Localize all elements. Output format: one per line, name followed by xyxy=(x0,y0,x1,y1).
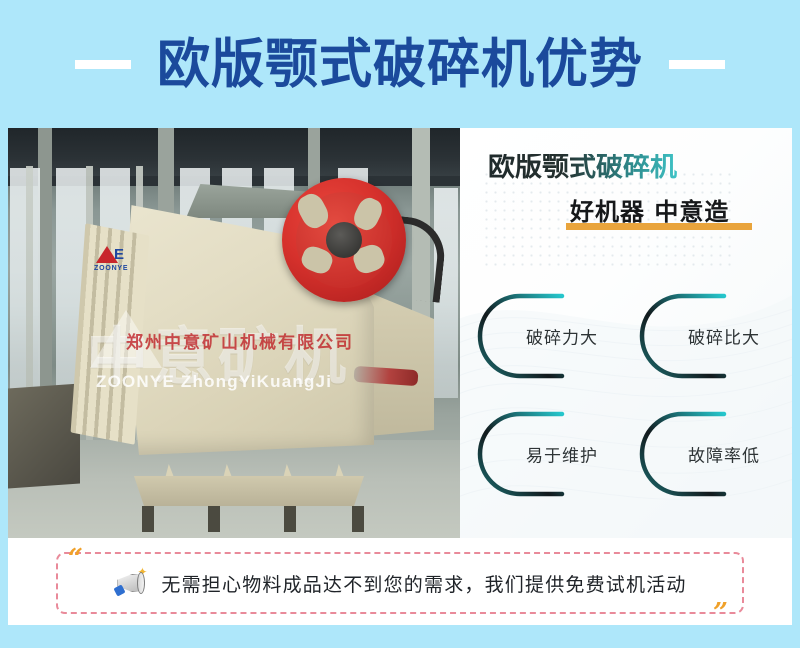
promo-banner: “ ” ✦ 无需担心物料成品达不到您的需求，我们提供免费试机活动 xyxy=(56,552,744,614)
feature-item-3[interactable]: 故障率低 xyxy=(636,406,788,502)
page-header: 欧版颚式破碎机优势 xyxy=(0,0,800,128)
flywheel-hub xyxy=(326,222,362,258)
crusher-leg xyxy=(208,506,220,532)
feature-label: 故障率低 xyxy=(688,442,760,467)
header-dash-right-icon xyxy=(669,60,725,69)
content-panel: E ZOONYE 中意矿机 郑州中意矿山机械有限公司 ZOONYE ZhongY… xyxy=(8,128,792,625)
product-info-panel: 欧版颚式破碎机 好机器 中意造 破碎力大 破碎 xyxy=(460,128,792,538)
feature-item-1[interactable]: 破碎比大 xyxy=(636,288,788,384)
megaphone-icon: ✦ xyxy=(113,569,147,597)
crusher-leg xyxy=(284,506,296,532)
feature-item-2[interactable]: 易于维护 xyxy=(474,406,626,502)
warehouse-column xyxy=(38,128,52,428)
crusher-leg xyxy=(352,506,364,532)
crusher-leg xyxy=(142,506,154,532)
feature-label: 易于维护 xyxy=(526,442,598,467)
flywheel xyxy=(282,178,406,302)
logo-mark: E xyxy=(114,247,124,262)
page-title: 欧版颚式破碎机优势 xyxy=(157,38,643,91)
feature-item-0[interactable]: 破碎力大 xyxy=(474,288,626,384)
zoonye-logo: E ZOONYE xyxy=(94,246,140,276)
header-dash-left-icon xyxy=(75,60,131,69)
feature-label: 破碎比大 xyxy=(688,324,760,349)
crusher-base xyxy=(124,476,374,506)
promo-banner-text: 无需担心物料成品达不到您的需求，我们提供免费试机活动 xyxy=(161,570,686,597)
product-slogan: 好机器 中意造 xyxy=(570,200,729,224)
watermark-company-en: ZOONYE ZhongYiKuangJi xyxy=(96,372,332,392)
promo-banner-inner: ✦ 无需担心物料成品达不到您的需求，我们提供免费试机活动 xyxy=(58,554,742,612)
watermark-company-cn: 郑州中意矿山机械有限公司 xyxy=(126,328,354,353)
logo-name: ZOONYE xyxy=(94,265,128,272)
warehouse-window xyxy=(10,168,40,418)
feature-label: 破碎力大 xyxy=(526,324,598,349)
product-photo: E ZOONYE 中意矿机 郑州中意矿山机械有限公司 ZOONYE ZhongY… xyxy=(8,128,460,538)
product-name: 欧版颚式破碎机 xyxy=(488,154,677,181)
product-slogan-wrap: 好机器 中意造 xyxy=(570,200,729,224)
